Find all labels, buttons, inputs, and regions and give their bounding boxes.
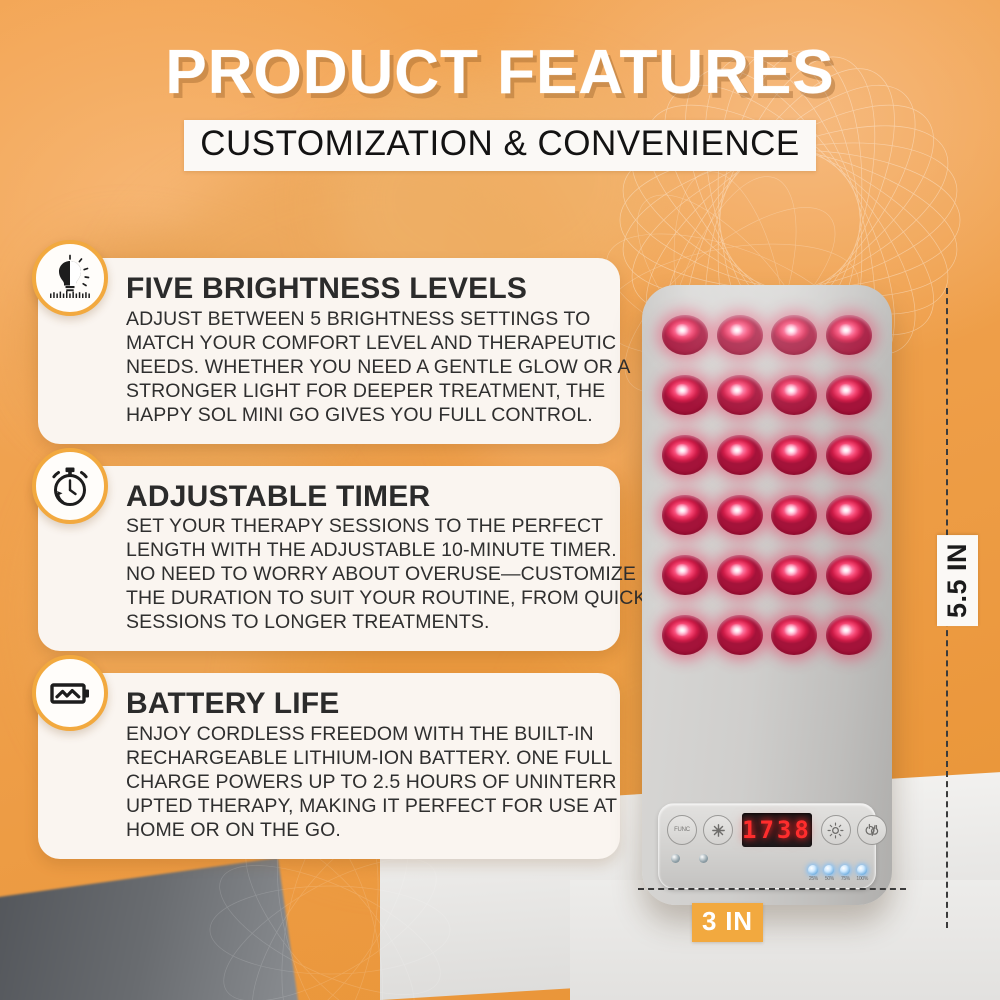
led-bulb	[771, 555, 817, 595]
feature-description-line: RECHARGEABLE LITHIUM-ION BATTERY. ONE FU…	[126, 747, 598, 771]
feature-card: BATTERY LIFE ENJOY CORDLESS FREEDOM WITH…	[38, 673, 620, 859]
control-panel: FUNC 1738	[658, 803, 876, 889]
sun-icon	[827, 822, 844, 839]
feature-title: FIVE BRIGHTNESS LEVELS	[126, 272, 598, 306]
width-dimension-label: 3 IN	[692, 903, 763, 942]
feature-description-line: SET YOUR THERAPY SESSIONS TO THE PERFECT	[126, 515, 598, 539]
led-bulb	[717, 555, 763, 595]
level-indicator-label: 100%	[856, 876, 868, 882]
feature-card: FIVE BRIGHTNESS LEVELS ADJUST BETWEEN 5 …	[38, 258, 620, 444]
page-subtitle: CUSTOMIZATION & CONVENIENCE	[184, 120, 815, 171]
feature-description-line: UPTED THERAPY, MAKING IT PERFECT FOR USE…	[126, 795, 598, 819]
feature-title: ADJUSTABLE TIMER	[126, 480, 598, 514]
subtitle-container: CUSTOMIZATION & CONVENIENCE	[0, 120, 1000, 171]
feature-title: BATTERY LIFE	[126, 687, 598, 721]
feature-item-timer: ADJUSTABLE TIMER SET YOUR THERAPY SESSIO…	[0, 466, 620, 652]
feature-item-battery: BATTERY LIFE ENJOY CORDLESS FREEDOM WITH…	[0, 673, 620, 859]
function-button[interactable]: FUNC	[667, 815, 697, 845]
level-indicator-label: 25%	[809, 876, 818, 882]
led-bulb	[662, 435, 708, 475]
feature-item-brightness: FIVE BRIGHTNESS LEVELS ADJUST BETWEEN 5 …	[0, 258, 620, 444]
led-bulb	[771, 375, 817, 415]
led-bulb	[826, 615, 872, 655]
plus-icon	[710, 822, 727, 839]
led-bulb	[826, 375, 872, 415]
led-bulb	[662, 555, 708, 595]
feature-description-line: SESSIONS TO LONGER TREATMENTS.	[126, 611, 598, 635]
led-bulb	[717, 375, 763, 415]
led-bulb	[662, 495, 708, 535]
page-title: PRODUCT FEATURES	[0, 42, 1000, 104]
red-light-therapy-device: FUNC 1738	[642, 285, 892, 905]
led-bulb	[662, 615, 708, 655]
feature-description-line: HOME OR ON THE GO.	[126, 819, 598, 843]
led-bulb	[826, 315, 872, 355]
timer-display: 1738	[742, 813, 812, 847]
feature-description-line: ENJOY CORDLESS FREEDOM WITH THE BUILT-IN	[126, 723, 598, 747]
led-bulb	[771, 315, 817, 355]
feature-description-line: LENGTH WITH THE ADJUSTABLE 10-MINUTE TIM…	[126, 539, 598, 563]
level-indicator-led	[857, 865, 867, 875]
level-indicator-label: 50%	[825, 876, 834, 882]
product-image-area: FUNC 1738	[600, 250, 1000, 970]
feature-description-line: CHARGE POWERS UP TO 2.5 HOURS OF UNINTER…	[126, 771, 598, 795]
header: PRODUCT FEATURES CUSTOMIZATION & CONVENI…	[0, 42, 1000, 171]
power-button[interactable]	[857, 815, 887, 845]
control-panel-row: FUNC 1738	[667, 813, 867, 847]
led-bulb	[662, 375, 708, 415]
stopwatch-icon-badge	[32, 448, 108, 524]
level-indicator-led	[840, 865, 850, 875]
led-grid	[658, 309, 876, 661]
status-led	[699, 854, 708, 863]
led-bulb	[717, 435, 763, 475]
feature-description-line: NEEDS. WHETHER YOU NEED A GENTLE GLOW OR…	[126, 356, 598, 380]
feature-list: FIVE BRIGHTNESS LEVELS ADJUST BETWEEN 5 …	[0, 258, 620, 881]
level-indicator: 100%	[856, 865, 868, 882]
led-bulb	[771, 615, 817, 655]
level-indicator-led	[824, 865, 834, 875]
function-button-label: FUNC	[674, 827, 690, 833]
feature-description: ADJUST BETWEEN 5 BRIGHTNESS SETTINGS TO …	[126, 308, 598, 428]
led-bulb	[826, 495, 872, 535]
status-led-row	[667, 854, 867, 863]
brightness-bulb-icon	[46, 254, 94, 302]
led-bulb	[826, 555, 872, 595]
battery-charge-icon	[46, 669, 94, 717]
power-icon	[863, 822, 880, 839]
level-indicator-row: 25% 50% 75% 100%	[808, 865, 868, 882]
level-indicator: 50%	[824, 865, 834, 882]
led-bulb	[826, 435, 872, 475]
led-bulb	[771, 495, 817, 535]
feature-description-line: HAPPY SOL MINI GO GIVES YOU FULL CONTROL…	[126, 404, 598, 428]
width-dimension-line	[638, 888, 906, 890]
feature-description-line: MATCH YOUR COMFORT LEVEL AND THERAPEUTIC	[126, 332, 598, 356]
level-indicator: 75%	[840, 865, 850, 882]
plus-button[interactable]	[703, 815, 733, 845]
timer-display-value: 1738	[742, 818, 812, 842]
led-bulb	[771, 435, 817, 475]
feature-description: ENJOY CORDLESS FREEDOM WITH THE BUILT-IN…	[126, 723, 598, 843]
feature-card: ADJUSTABLE TIMER SET YOUR THERAPY SESSIO…	[38, 466, 620, 652]
led-bulb	[662, 315, 708, 355]
level-indicator: 25%	[808, 865, 818, 882]
led-bulb	[717, 315, 763, 355]
feature-description-line: STRONGER LIGHT FOR DEEPER TREATMENT, THE	[126, 380, 598, 404]
led-bulb	[717, 495, 763, 535]
level-indicator-led	[808, 865, 818, 875]
stopwatch-icon	[46, 462, 94, 510]
status-led	[671, 854, 680, 863]
feature-description-line: NO NEED TO WORRY ABOUT OVERUSE—CUSTOMIZE	[126, 563, 598, 587]
feature-description-line: ADJUST BETWEEN 5 BRIGHTNESS SETTINGS TO	[126, 308, 598, 332]
feature-description-line: THE DURATION TO SUIT YOUR ROUTINE, FROM …	[126, 587, 598, 611]
battery-charge-icon-badge	[32, 655, 108, 731]
feature-description: SET YOUR THERAPY SESSIONS TO THE PERFECT…	[126, 515, 598, 635]
brightness-bulb-icon-badge	[32, 240, 108, 316]
led-bulb	[717, 615, 763, 655]
brightness-button[interactable]	[821, 815, 851, 845]
height-dimension-label: 5.5 IN	[937, 535, 978, 626]
level-indicator-label: 75%	[841, 876, 850, 882]
